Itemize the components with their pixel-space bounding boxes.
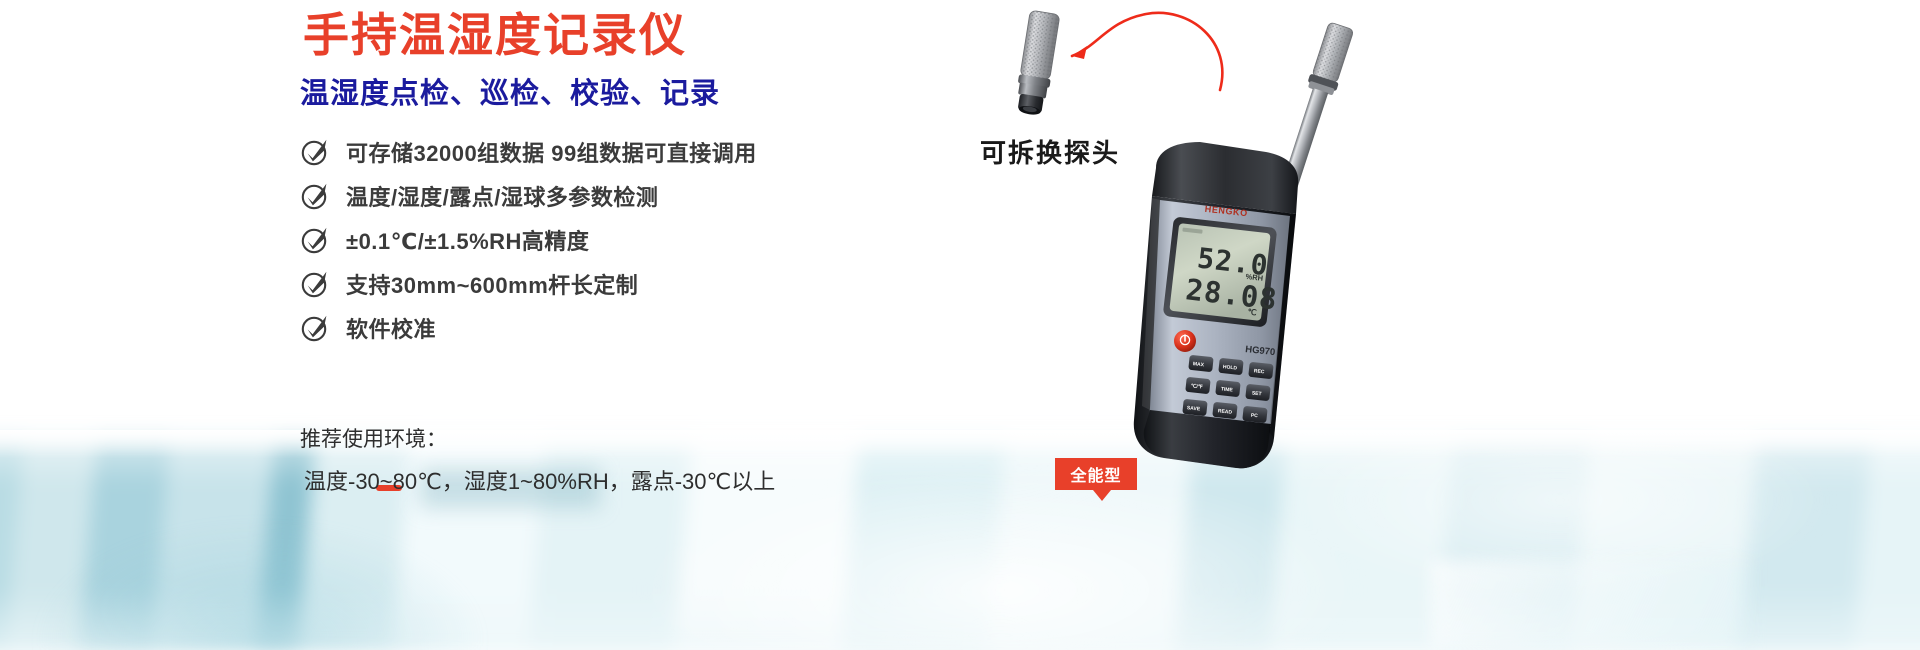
list-item-label: 可存储32000组数据 99组数据可直接调用 xyxy=(346,136,757,168)
product-device-image: HENGKO 52.0 %RH 28.08 ℃ HG970 xyxy=(1060,0,1380,520)
check-circle-icon xyxy=(300,137,330,167)
feature-list: 可存储32000组数据 99组数据可直接调用 温度/湿度/露点/湿球多参数检测 … xyxy=(300,130,757,350)
check-circle-icon xyxy=(300,269,330,299)
list-item: 可存储32000组数据 99组数据可直接调用 xyxy=(300,130,757,174)
badge-pointer xyxy=(1093,490,1111,501)
status-badge: 全能型 xyxy=(1055,458,1137,490)
svg-text:℃/℉: ℃/℉ xyxy=(1191,382,1204,390)
svg-text:SET: SET xyxy=(1252,390,1262,397)
list-item-label: 温度/湿度/露点/湿球多参数检测 xyxy=(346,180,658,212)
background-panel-blur xyxy=(1430,560,1750,650)
list-item: ±0.1℃/±1.5%RH高精度 xyxy=(300,218,757,262)
page-subtitle: 温湿度点检、巡检、校验、记录 xyxy=(300,80,720,109)
recommend-title: 推荐使用环境： xyxy=(300,423,447,453)
check-circle-icon xyxy=(300,225,330,255)
check-circle-icon xyxy=(300,181,330,211)
background-fade-divider xyxy=(0,430,1920,458)
list-item-label: 软件校准 xyxy=(346,312,436,344)
svg-text:MAX: MAX xyxy=(1193,361,1205,368)
page-title: 手持温湿度记录仪 xyxy=(303,12,687,58)
list-item: 支持30mm~600mm杆长定制 xyxy=(300,262,757,306)
list-item: 温度/湿度/露点/湿球多参数检测 xyxy=(300,174,757,218)
svg-text:℃: ℃ xyxy=(1247,307,1257,317)
check-circle-icon xyxy=(300,313,330,343)
svg-text:REC: REC xyxy=(1254,368,1266,375)
list-item-label: ±0.1℃/±1.5%RH高精度 xyxy=(346,224,589,256)
product-banner: 手持温湿度记录仪 温湿度点检、巡检、校验、记录 可存储32000组数据 99组数… xyxy=(0,0,1920,650)
list-item-label: 支持30mm~600mm杆长定制 xyxy=(346,268,638,300)
list-item: 软件校准 xyxy=(300,306,757,350)
svg-text:PC: PC xyxy=(1250,413,1258,420)
recommend-detail: 温度-30~80℃，湿度1~80%RH，露点-30℃以上 xyxy=(304,464,775,496)
